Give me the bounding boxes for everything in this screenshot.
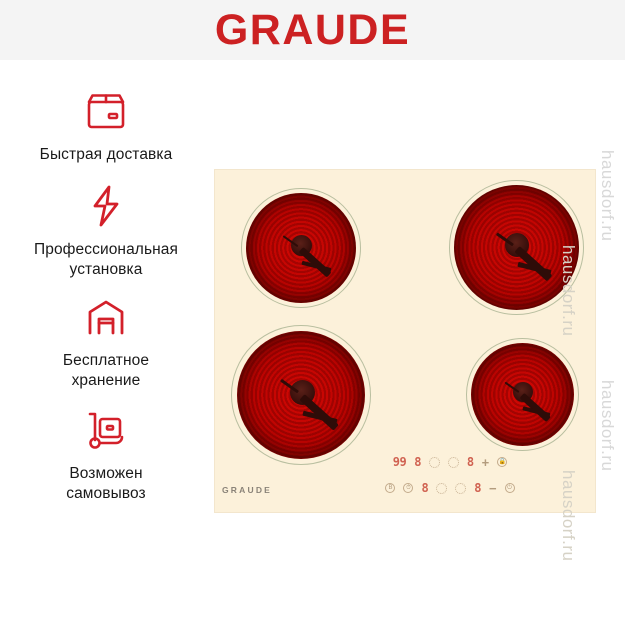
burner-rear-left[interactable] xyxy=(241,188,361,308)
header-bar: GRAUDE xyxy=(0,0,625,60)
feature-label: Возможен самовывоз xyxy=(66,464,146,504)
plus-button[interactable]: + xyxy=(482,456,490,469)
features-sidebar: Быстрая доставка Профессиональная устано… xyxy=(0,60,212,625)
feature-item-professional-installation: Профессиональная установка xyxy=(6,181,206,280)
watermark: hausdorf.ru xyxy=(597,150,617,242)
feature-label: Профессиональная установка xyxy=(34,240,178,280)
product-card: GRAUDE Быстрая доставка xyxy=(0,0,625,625)
power-icon[interactable]: ⏻ xyxy=(505,483,515,493)
watermark: hausdorf.ru xyxy=(558,245,578,337)
zone-display-left: 8 xyxy=(421,482,428,494)
feature-item-free-storage: Бесплатное хранение xyxy=(6,292,206,391)
watermark: hausdorf.ru xyxy=(597,380,617,472)
clock-icon[interactable]: ⏱ xyxy=(403,483,413,493)
burner-front-right[interactable] xyxy=(466,338,579,451)
control-panel[interactable]: 99 8 8 + 🔒 B ⏱ 8 8 − ⏻ xyxy=(355,452,545,500)
box-icon xyxy=(85,86,127,136)
timer-display: 99 xyxy=(393,456,406,468)
hand-truck-icon xyxy=(83,405,129,455)
zone-display-right: 8 xyxy=(474,482,481,494)
feature-label-line2: самовывоз xyxy=(66,485,146,502)
watermark: hausdorf.ru xyxy=(558,470,578,562)
feature-label-line1: Профессиональная xyxy=(34,241,178,258)
feature-item-self-pickup: Возможен самовывоз xyxy=(6,405,206,504)
minus-button[interactable]: − xyxy=(489,482,497,495)
feature-label: Быстрая доставка xyxy=(40,145,173,165)
warehouse-icon xyxy=(85,292,127,342)
timer-dial-icon-right[interactable] xyxy=(448,457,459,468)
feature-label-line1: Возможен xyxy=(69,465,142,482)
feature-label-line2: хранение xyxy=(72,372,141,389)
burner-front-left[interactable] xyxy=(231,325,371,465)
power-level-display-right: 8 xyxy=(467,456,474,468)
page-title: GRAUDE xyxy=(215,9,410,52)
power-level-display-left: 8 xyxy=(414,456,421,468)
feature-item-fast-delivery: Быстрая доставка xyxy=(6,86,206,165)
bolt-icon xyxy=(89,181,123,231)
boost-icon[interactable]: B xyxy=(385,483,395,493)
feature-label: Бесплатное хранение xyxy=(63,351,149,391)
control-panel-row-top: 99 8 8 + 🔒 xyxy=(355,452,545,472)
zone-dial-icon-left[interactable] xyxy=(436,483,447,494)
control-panel-row-bottom: B ⏱ 8 8 − ⏻ xyxy=(355,478,545,498)
lock-icon[interactable]: 🔒 xyxy=(497,457,507,467)
timer-dial-icon-left[interactable] xyxy=(429,457,440,468)
feature-label-line1: Бесплатное xyxy=(63,352,149,369)
cooktop-brand-label: GRAUDE xyxy=(222,485,272,495)
feature-label-line2: установка xyxy=(70,261,143,278)
zone-dial-icon-right[interactable] xyxy=(455,483,466,494)
